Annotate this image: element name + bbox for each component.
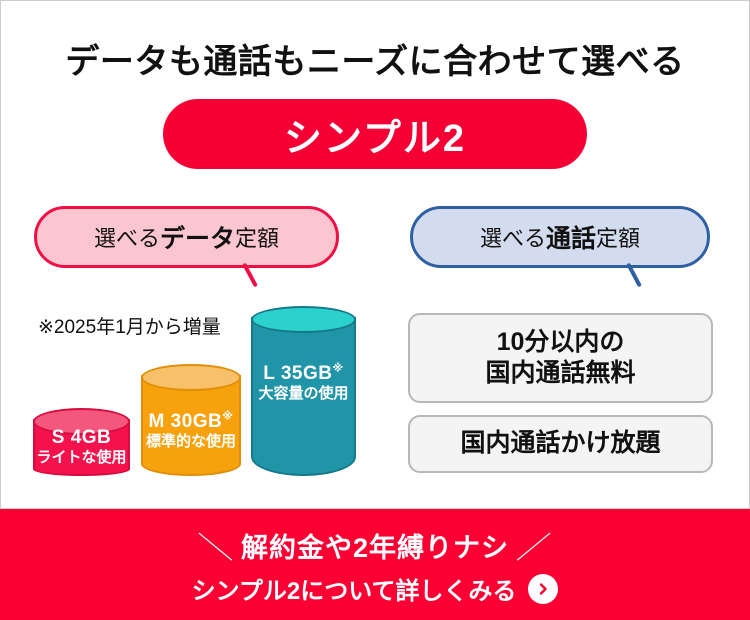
cta-banner[interactable]: ＼ 解約金や2年縛りナシ ／ シンプル2について詳しくみる <box>0 509 750 620</box>
slash-right-icon: ／ <box>514 523 554 567</box>
cta-link-text: シンプル2について詳しくみる <box>192 571 517 606</box>
plan-capacity: 30GB <box>171 411 223 432</box>
call-plan-bubble: 選べる通話定額 <box>410 206 710 268</box>
cylinder-label: L 35GB※ 大容量の使用 <box>251 362 356 405</box>
advertisement-banner: データも通話もニーズに合わせて選べる シンプル2 選べるデータ定額 選べる通話定… <box>0 0 750 620</box>
data-plan-cylinder-l: L 35GB※ 大容量の使用 <box>251 306 356 476</box>
call-bubble-suffix: 定額 <box>596 221 640 253</box>
cta-headline: ＼ 解約金や2年縛りナシ ／ <box>200 523 550 567</box>
call-feature-line1: 国内通話かけ放題 <box>460 428 660 459</box>
cylinder-capacity: S 4GB <box>33 426 130 450</box>
data-bubble-suffix: 定額 <box>235 221 279 253</box>
cylinder-label: S 4GB ライトな使用 <box>33 426 130 469</box>
data-bubble-strong: データ <box>160 219 235 255</box>
plan-size: L <box>263 363 275 384</box>
data-plan-bubble: 選べるデータ定額 <box>34 206 339 268</box>
cylinder-capacity: L 35GB※ <box>251 362 356 386</box>
data-plan-cylinder-s: S 4GB ライトな使用 <box>33 408 130 476</box>
call-feature-box-2: 国内通話かけ放題 <box>408 415 713 473</box>
plan-size: S <box>52 427 65 448</box>
call-feature-line1: 10分以内の <box>485 327 635 358</box>
plan-capacity: 35GB <box>281 363 333 384</box>
call-bubble-strong: 通話 <box>546 219 596 255</box>
page-title: データも通話もニーズに合わせて選べる <box>0 34 750 83</box>
plan-asterisk: ※ <box>332 362 343 374</box>
slash-left-icon: ＼ <box>195 523 235 567</box>
call-feature-line2: 国内通話無料 <box>485 358 635 389</box>
cta-headline-text: 解約金や2年縛りナシ <box>241 526 509 565</box>
cylinder-label: M 30GB※ 標準的な使用 <box>141 410 241 453</box>
brand-badge: シンプル2 <box>163 99 587 169</box>
cylinder-top <box>141 364 241 391</box>
plan-size: M <box>149 411 165 432</box>
call-feature-box-1: 10分以内の 国内通話無料 <box>408 313 713 403</box>
data-plan-cylinder-m: M 30GB※ 標準的な使用 <box>141 364 241 476</box>
plan-usage: ライトな使用 <box>33 449 130 468</box>
cylinder-capacity: M 30GB※ <box>141 410 241 434</box>
chevron-right-icon[interactable] <box>528 574 558 604</box>
data-bubble-prefix: 選べる <box>94 221 160 253</box>
plan-capacity: 4GB <box>71 427 112 448</box>
plan-asterisk: ※ <box>222 410 233 422</box>
plan-usage: 大容量の使用 <box>251 385 356 404</box>
cta-link[interactable]: シンプル2について詳しくみる <box>192 571 559 606</box>
plan-usage: 標準的な使用 <box>141 433 241 452</box>
call-bubble-prefix: 選べる <box>480 221 546 253</box>
data-increase-note: ※2025年1月から増量 <box>38 312 221 339</box>
cylinder-top <box>251 306 356 333</box>
